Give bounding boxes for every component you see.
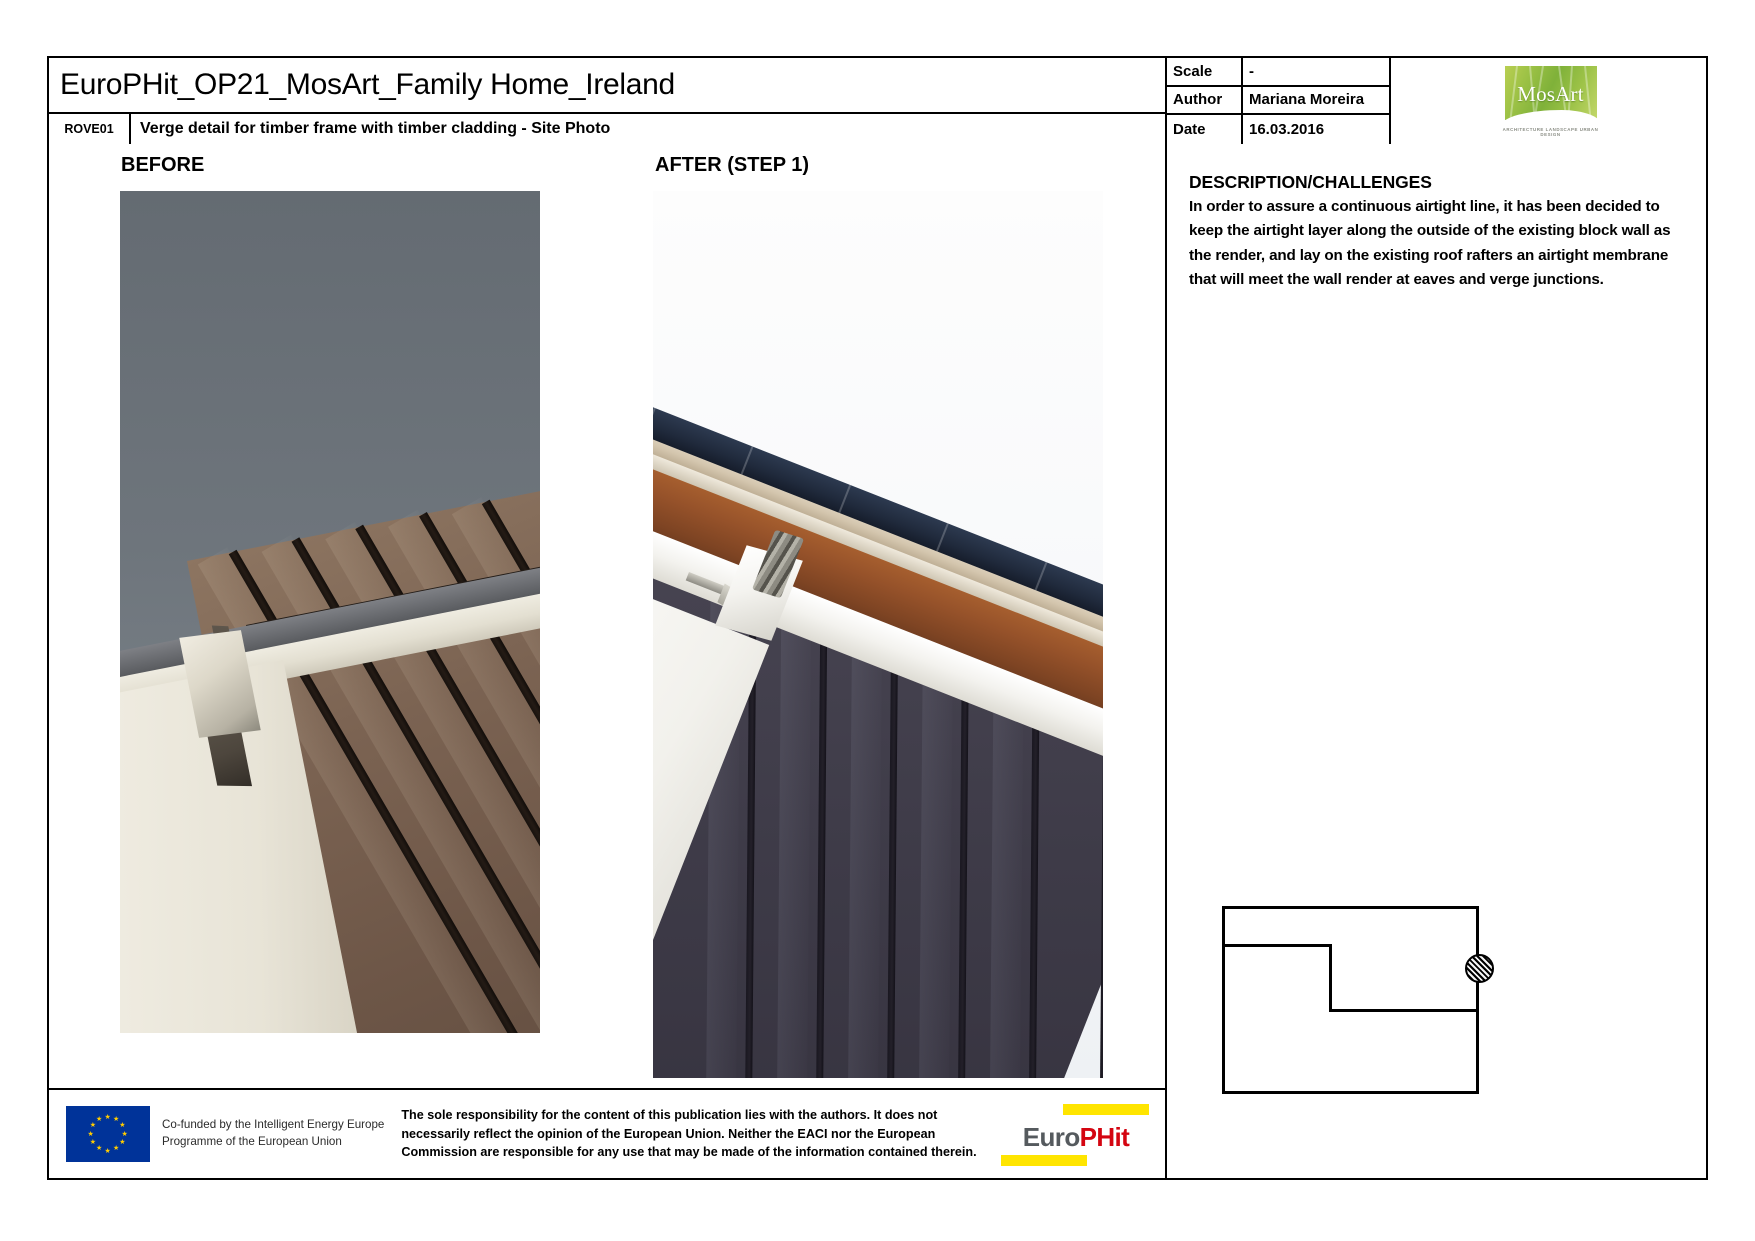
- date-value: 16.03.2016: [1243, 115, 1389, 144]
- sheet-footer: ★★★★★★★★★★★★ Co-funded by the Intelligen…: [49, 1088, 1167, 1178]
- description-body: In order to assure a continuous airtight…: [1189, 195, 1684, 292]
- scale-value: -: [1243, 58, 1389, 85]
- europhit-wordmark: EuroPHit: [995, 1122, 1157, 1153]
- eu-funding-block: ★★★★★★★★★★★★ Co-funded by the Intelligen…: [49, 1106, 384, 1162]
- before-photo: [120, 191, 540, 1033]
- mosart-tagline: ARCHITECTURE LANDSCAPE URBAN DESIGN: [1499, 127, 1603, 137]
- eu-flag-icon: ★★★★★★★★★★★★: [66, 1106, 150, 1162]
- before-caption: BEFORE: [121, 154, 204, 177]
- key-plan-outline: [1222, 906, 1479, 1094]
- title-row: EuroPHit_OP21_MosArt_Family Home_Ireland: [49, 58, 1165, 114]
- date-label: Date: [1167, 115, 1243, 144]
- europhit-logo: EuroPHit: [995, 1098, 1157, 1170]
- mosart-grass-image: MosArt: [1505, 66, 1597, 120]
- title-block-row-date: Date 16.03.2016: [1167, 115, 1389, 144]
- europhit-bar-top: [1063, 1104, 1149, 1115]
- title-block-row-author: Author Mariana Moreira: [1167, 87, 1389, 116]
- scale-label: Scale: [1167, 58, 1243, 85]
- title-block: Scale - Author Mariana Moreira Date 16.0…: [1167, 58, 1710, 144]
- drawing-code: ROVE01: [49, 114, 131, 144]
- mosart-logo: MosArt ARCHITECTURE LANDSCAPE URBAN DESI…: [1391, 58, 1710, 144]
- eu-funding-text: Co-funded by the Intelligent Energy Euro…: [150, 1117, 384, 1151]
- key-plan-step-vertical: [1329, 944, 1332, 1012]
- disclaimer-text: The sole responsibility for the content …: [384, 1106, 995, 1161]
- key-plan-step-horizontal: [1222, 944, 1332, 947]
- sheet-subtitle: Verge detail for timber frame with timbe…: [131, 114, 1165, 144]
- title-block-row-scale: Scale -: [1167, 58, 1389, 87]
- info-panel: DESCRIPTION/CHALLENGES In order to assur…: [1167, 144, 1706, 1178]
- author-value: Mariana Moreira: [1243, 87, 1389, 114]
- key-plan-step-horizontal-2: [1329, 1009, 1479, 1012]
- page-title: EuroPHit_OP21_MosArt_Family Home_Ireland: [49, 68, 675, 102]
- drawing-sheet: EuroPHit_OP21_MosArt_Family Home_Ireland…: [47, 56, 1708, 1180]
- europhit-bar-bottom: [1001, 1155, 1087, 1166]
- europhit-word-euro: Euro: [1023, 1122, 1080, 1152]
- description-heading: DESCRIPTION/CHALLENGES: [1189, 172, 1684, 193]
- photo-area: BEFORE AFTER (STEP 1): [49, 144, 1167, 1178]
- subtitle-row: ROVE01 Verge detail for timber frame wit…: [49, 114, 1165, 144]
- mosart-logo-wrap: MosArt ARCHITECTURE LANDSCAPE URBAN DESI…: [1499, 64, 1603, 138]
- author-label: Author: [1167, 87, 1243, 114]
- title-block-fields: Scale - Author Mariana Moreira Date 16.0…: [1167, 58, 1391, 144]
- after-caption: AFTER (STEP 1): [655, 154, 809, 177]
- europhit-word-phit: PHit: [1080, 1122, 1130, 1152]
- sheet-header: EuroPHit_OP21_MosArt_Family Home_Ireland…: [49, 58, 1167, 144]
- description-panel: DESCRIPTION/CHALLENGES In order to assur…: [1167, 144, 1706, 292]
- key-plan: [1222, 906, 1479, 1094]
- mosart-wordmark: MosArt: [1505, 82, 1597, 107]
- after-photo: [653, 191, 1103, 1078]
- key-plan-detail-marker-icon: [1465, 954, 1494, 983]
